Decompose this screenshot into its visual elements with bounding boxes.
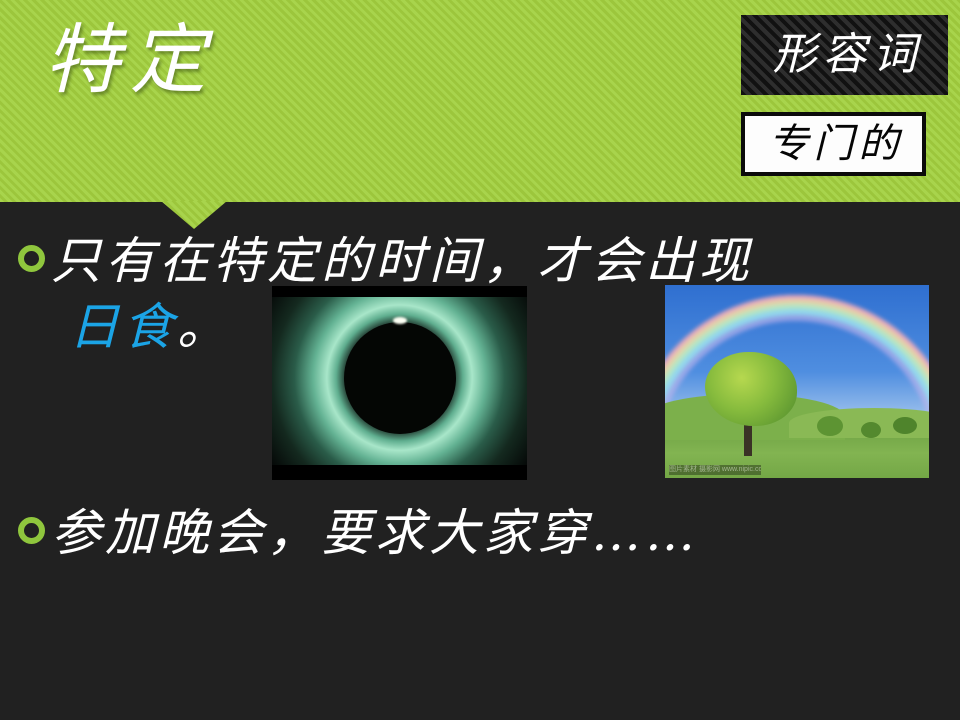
eclipse-diamond-ring-bead [393,317,407,324]
definition-tag: 专门的 [741,112,926,176]
rainbow-image: 图片素材 摄影网 www.nipic.com [665,285,929,478]
small-tree-1 [817,416,843,436]
bullet-item-2: 参加晚会，要求大家穿…… [18,500,699,566]
small-tree-2 [861,422,881,438]
bullet-1-line-1: 只有在特定的时间，才会出现 [51,228,753,294]
slide-canvas: 特定 形容词 专门的 只有在特定的时间，才会出现 日食。 图片素材 摄影网 ww… [0,0,960,720]
bullet-2-line-1: 参加晚会，要求大家穿…… [51,500,699,566]
page-title: 特定 [44,12,216,108]
ring-bullet-icon [18,517,45,544]
image-watermark: 图片素材 摄影网 www.nipic.com [669,465,761,475]
eclipse-moon-disc [344,322,456,434]
highlight-term-eclipse: 日食 [69,298,177,356]
main-tree-canopy [705,352,797,426]
ring-bullet-icon [18,245,45,272]
small-tree-3 [893,417,917,434]
definition-label: 专门的 [764,122,904,166]
eclipse-corona [272,297,527,465]
bullet-2-text: 参加晚会，要求大家穿…… [51,500,699,566]
part-of-speech-label: 形容词 [767,31,923,79]
bullet-1-period: 。 [177,298,231,356]
banner-speech-tail [161,201,227,229]
part-of-speech-tag: 形容词 [741,15,948,95]
solar-eclipse-image [272,286,527,480]
